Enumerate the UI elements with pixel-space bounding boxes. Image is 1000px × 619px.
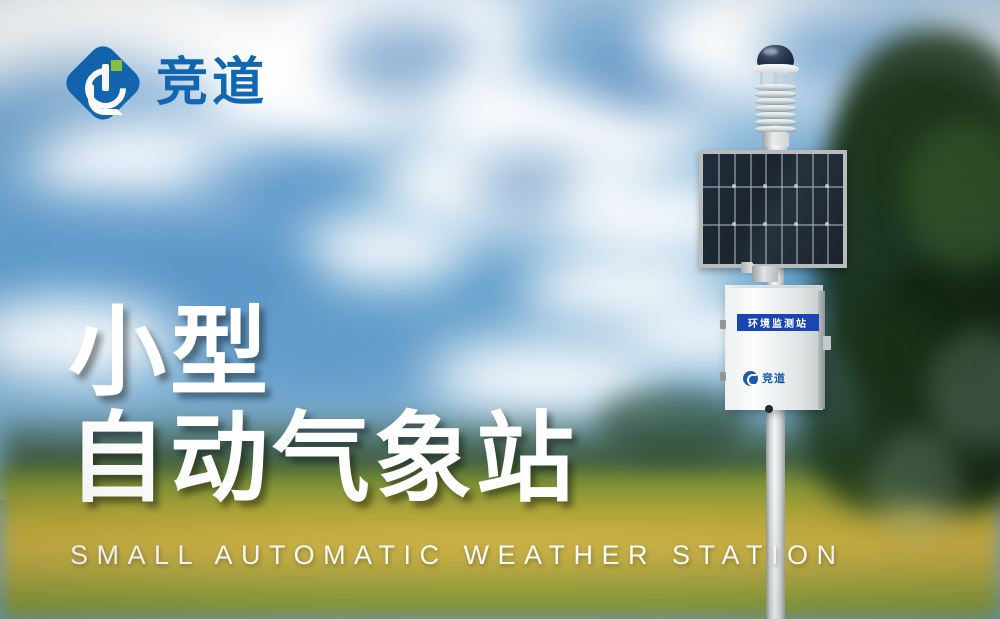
solar-panel-mount [752,266,778,282]
brand-name: 竞道 [156,57,268,109]
enclosure-brand-text: 竞道 [762,370,786,386]
enclosure-label-text: 环境监测站 [748,315,808,330]
banner-image: 环境监测站 竞道 竞道 小型 自动气象站 SMALL AUTOMATIC WEA… [0,0,1000,619]
enclosure-hinge [720,320,726,329]
enclosure-side [818,291,825,409]
enclosure-hinge [720,372,726,381]
brand-logo[interactable]: 竞道 [66,46,268,120]
enclosure-cable-gland [765,405,773,413]
enclosure-latch [823,336,831,350]
headline-line-1: 小型 [68,300,578,406]
solar-panel [699,150,847,268]
jingdao-diamond-logo-icon [66,46,140,120]
headline-line-2: 自动气象站 [68,406,578,512]
logo-j-hook [88,80,123,115]
dome-highlight [763,48,778,55]
subtitle: SMALL AUTOMATIC WEATHER STATION [70,540,845,571]
radiation-shield [755,84,796,134]
enclosure-box [725,288,823,410]
logo-green-square [111,60,122,71]
headline: 小型 自动气象站 [68,300,578,512]
enclosure-brand-logo: 竞道 [743,370,786,386]
enclosure-brand-logo-icon [743,371,758,386]
solar-cells [703,154,843,264]
mounting-pole-lower [766,410,785,619]
enclosure-label: 环境监测站 [737,314,819,331]
